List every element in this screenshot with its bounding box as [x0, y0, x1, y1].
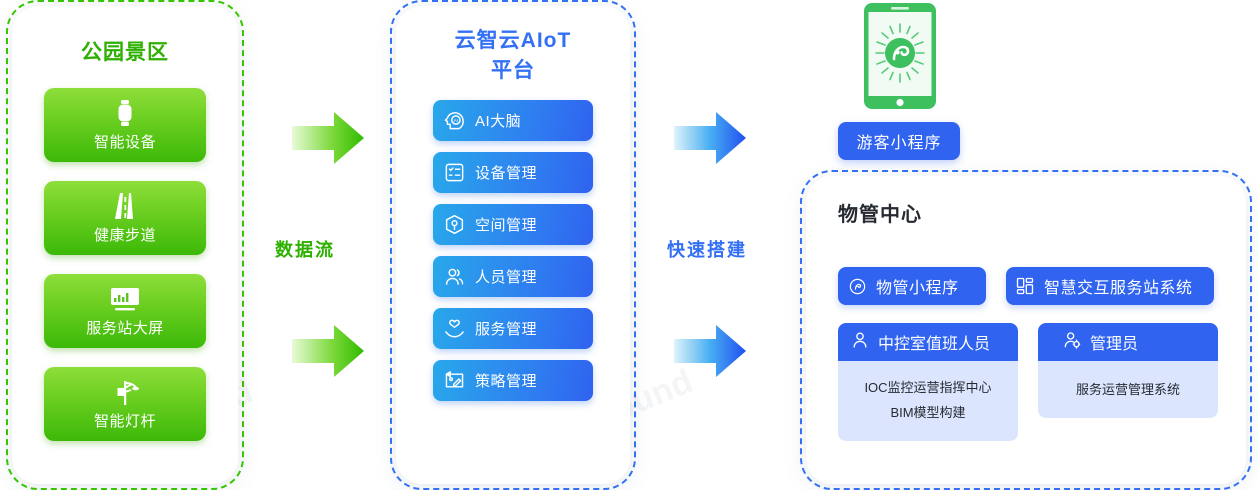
- arrow-build-bottom: [674, 325, 746, 377]
- person-icon: [850, 330, 870, 355]
- ai-brain-icon: AI: [433, 109, 475, 132]
- flow-label-dataflow: 数据流: [275, 236, 335, 262]
- platform-card-label: 策略管理: [475, 370, 537, 391]
- platform-card-label: 人员管理: [475, 266, 537, 287]
- pm-role-label: 管理员: [1090, 330, 1138, 354]
- pm-pill-label: 智慧交互服务站系统: [1044, 274, 1193, 298]
- mini-program-phone-icon: [863, 2, 937, 110]
- pm-role-line: BIM模型构建: [844, 400, 1012, 425]
- pm-center-panel: 物管中心 物管小程序 智慧交互服务站系统: [806, 176, 1246, 484]
- visitor-miniprogram-label: 游客小程序: [856, 129, 941, 153]
- platform-panel: 云智云AIoT 平台 AI AI大脑: [396, 6, 630, 484]
- flow-label-build: 快速搭建: [667, 236, 747, 262]
- platform-card-label: 设备管理: [475, 162, 537, 183]
- display-screen-icon: [109, 285, 141, 312]
- platform-title-line1: 云智云AIoT: [396, 26, 630, 56]
- svg-text:AI: AI: [453, 118, 458, 124]
- platform-card-label: 空间管理: [475, 214, 537, 235]
- service-heart-hand-icon: [433, 317, 475, 340]
- pm-role-line: IOC监控运营指挥中心: [844, 375, 1012, 400]
- park-card-station-screen[interactable]: 服务站大屏: [44, 274, 206, 348]
- mini-program-icon: [838, 277, 876, 296]
- platform-title: 云智云AIoT 平台: [396, 26, 630, 86]
- park-card-smart-pole[interactable]: 智能灯杆: [44, 367, 206, 441]
- space-cube-icon: [433, 213, 475, 236]
- person-gear-icon: [1062, 330, 1082, 355]
- pm-role-body: 服务运营管理系统: [1038, 361, 1218, 418]
- platform-card-service-mgmt[interactable]: 服务管理: [433, 308, 593, 349]
- pm-role-ioc: 中控室值班人员 IOC监控运营指挥中心 BIM模型构建: [838, 323, 1018, 441]
- arrow-dataflow-top: [292, 112, 364, 164]
- pm-role-label: 中控室值班人员: [878, 330, 990, 354]
- park-card-smart-device[interactable]: 智能设备: [44, 88, 206, 162]
- park-card-health-trail[interactable]: 健康步道: [44, 181, 206, 255]
- smart-watch-icon: [114, 99, 136, 126]
- pm-role-line: 服务运营管理系统: [1044, 377, 1212, 402]
- kiosk-layout-icon: [1006, 276, 1044, 296]
- pm-pill-kiosk-system[interactable]: 智慧交互服务站系统: [1006, 267, 1214, 305]
- park-panel: 公园景区 智能设备 健康步道 服务站大屏: [12, 6, 238, 484]
- park-card-label: 智能灯杆: [94, 410, 156, 431]
- pm-center-title: 物管中心: [838, 198, 1246, 227]
- platform-card-ai-brain[interactable]: AI AI大脑: [433, 100, 593, 141]
- pm-role-admin: 管理员 服务运营管理系统: [1038, 323, 1218, 418]
- park-card-label: 健康步道: [94, 224, 156, 245]
- pm-role-body: IOC监控运营指挥中心 BIM模型构建: [838, 361, 1018, 441]
- arrow-dataflow-bottom: [292, 325, 364, 377]
- park-card-label: 智能设备: [94, 131, 156, 152]
- policy-edit-icon: [433, 369, 475, 392]
- park-title: 公园景区: [12, 36, 238, 66]
- device-list-icon: [433, 161, 475, 184]
- park-card-label: 服务站大屏: [86, 317, 164, 338]
- park-device-list: 智能设备 健康步道 服务站大屏 智能灯杆: [12, 88, 238, 441]
- platform-card-label: 服务管理: [475, 318, 537, 339]
- diagram-canvas: Unisound Unisound Unisound Unisound Unis…: [0, 0, 1258, 490]
- people-icon: [433, 265, 475, 288]
- pm-pill-label: 物管小程序: [876, 274, 959, 298]
- platform-card-label: AI大脑: [475, 110, 521, 131]
- platform-module-list: AI AI大脑 设备管理: [396, 100, 630, 401]
- pm-pill-miniprogram[interactable]: 物管小程序: [838, 267, 986, 305]
- platform-card-policy-mgmt[interactable]: 策略管理: [433, 360, 593, 401]
- platform-card-space-mgmt[interactable]: 空间管理: [433, 204, 593, 245]
- arrow-build-top: [674, 112, 746, 164]
- pm-role-header[interactable]: 管理员: [1038, 323, 1218, 361]
- platform-card-device-mgmt[interactable]: 设备管理: [433, 152, 593, 193]
- pm-role-header[interactable]: 中控室值班人员: [838, 323, 1018, 361]
- visitor-miniprogram-button[interactable]: 游客小程序: [838, 122, 960, 160]
- platform-title-line2: 平台: [396, 56, 630, 86]
- platform-card-people-mgmt[interactable]: 人员管理: [433, 256, 593, 297]
- walking-trail-icon: [111, 192, 139, 219]
- smart-lamp-pole-icon: [110, 378, 140, 405]
